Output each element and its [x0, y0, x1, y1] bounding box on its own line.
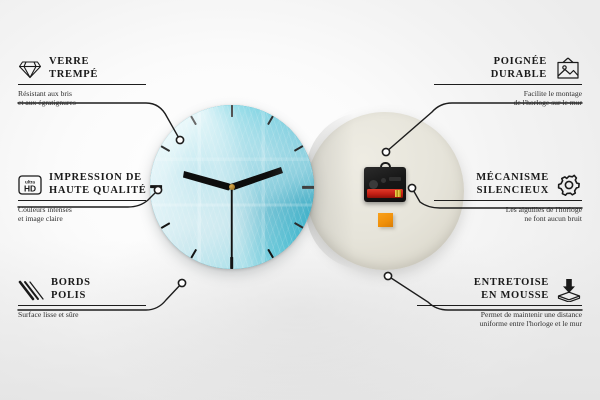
- feature-desc-line1: Surface lisse et sûre: [18, 310, 146, 319]
- feature-desc-line2: et image claire: [18, 214, 146, 223]
- feature-title: ENTRETOISE EN MOUSSE: [474, 277, 549, 302]
- feature-head: MÉCANISME SILENCIEUX: [434, 172, 582, 197]
- feature-verre-trempe: VERRE TREMPÉ Résistant aux bris et aux é…: [18, 56, 146, 107]
- diamond-icon: [18, 59, 42, 79]
- ultra-hd-icon: ultra HD: [18, 174, 42, 196]
- feature-head: VERRE TREMPÉ: [18, 56, 146, 81]
- title-rule: [434, 84, 582, 85]
- title-rule: [18, 305, 146, 306]
- feature-desc-line1: Résistant aux bris: [18, 89, 146, 98]
- feature-mecanisme-silencieux: MÉCANISME SILENCIEUX Les aiguilles de l'…: [434, 172, 582, 223]
- feature-title: POIGNÉE DURABLE: [491, 56, 547, 81]
- feature-desc-line1: Les aiguilles de l'horloge: [434, 205, 582, 214]
- gear-icon: [556, 173, 582, 197]
- feature-title: MÉCANISME SILENCIEUX: [476, 172, 549, 197]
- title-rule: [434, 200, 582, 201]
- feature-impression-haute-qualite: ultra HD IMPRESSION DE HAUTE QUALITÉ Cou…: [18, 172, 146, 223]
- feature-title: BORDS POLIS: [51, 277, 91, 302]
- feature-head: ENTRETOISE EN MOUSSE: [417, 277, 582, 302]
- feature-desc-line1: Facilite le montage: [434, 89, 582, 98]
- connector-dot-poignee: [382, 148, 389, 155]
- hanging-frame-icon: [554, 57, 582, 81]
- title-rule: [417, 305, 582, 306]
- connector-dot-impression: [154, 186, 161, 193]
- feature-head: ultra HD IMPRESSION DE HAUTE QUALITÉ: [18, 172, 146, 197]
- polished-edges-icon: [18, 279, 44, 301]
- connector-dot-bords-polis: [178, 279, 185, 286]
- feature-head: BORDS POLIS: [18, 277, 146, 302]
- feature-desc-line2: et aux égratignures: [18, 98, 146, 107]
- connector-dot-verre-trempe: [176, 136, 183, 143]
- feature-title: IMPRESSION DE HAUTE QUALITÉ: [49, 172, 147, 197]
- feature-poignee-durable: POIGNÉE DURABLE Facilite le montage de l…: [434, 56, 582, 107]
- connector-verre-trempe: [18, 103, 180, 140]
- feature-desc-line1: Permet de maintenir une distance: [417, 310, 582, 319]
- feature-bords-polis: BORDS POLIS Surface lisse et sûre: [18, 277, 146, 319]
- connector-dot-mecanisme: [408, 184, 415, 191]
- connector-dot-entretoise: [384, 272, 391, 279]
- feature-entretoise-en-mousse: ENTRETOISE EN MOUSSE Permet de maintenir…: [417, 277, 582, 328]
- svg-text:HD: HD: [24, 183, 36, 193]
- connector-poignee: [386, 103, 582, 152]
- feature-title: VERRE TREMPÉ: [49, 56, 98, 81]
- infographic-canvas: VERRE TREMPÉ Résistant aux bris et aux é…: [0, 0, 600, 400]
- feature-desc-line2: ne font aucun bruit: [434, 214, 582, 223]
- feature-desc-line1: Couleurs intenses: [18, 205, 146, 214]
- title-rule: [18, 200, 146, 201]
- feature-head: POIGNÉE DURABLE: [434, 56, 582, 81]
- press-down-foam-icon: [556, 278, 582, 302]
- title-rule: [18, 84, 146, 85]
- feature-desc-line2: de l'horloge sur le mur: [434, 98, 582, 107]
- feature-desc-line2: uniforme entre l'horloge et le mur: [417, 319, 582, 328]
